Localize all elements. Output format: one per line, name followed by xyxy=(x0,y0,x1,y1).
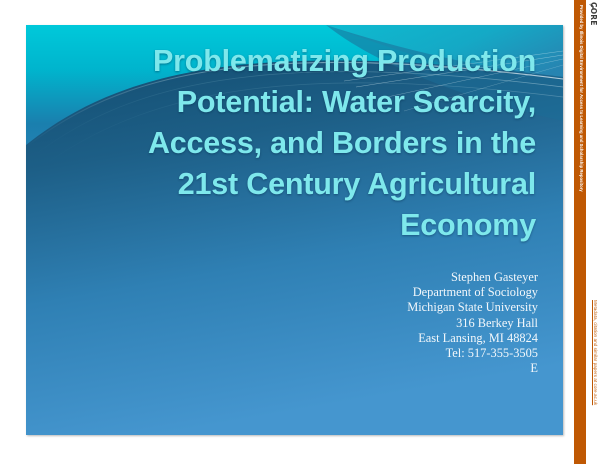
author-name: Stephen Gasteyer xyxy=(206,270,538,285)
author-telephone: Tel: 517-355-3505 xyxy=(206,346,538,361)
core-repository-banner: Provided by Illinois Digital Environment… xyxy=(566,0,600,464)
title-line: 21st Century Agricultural xyxy=(86,164,536,205)
document-page: Problematizing Production Potential: Wat… xyxy=(0,0,600,464)
title-line: Potential: Water Scarcity, xyxy=(86,82,536,123)
core-provided-by-wrapper: Provided by Illinois Digital Environment… xyxy=(575,5,585,425)
core-metadata-link-text: Metadata, citation and similar papers at… xyxy=(593,300,598,405)
title-line: Economy xyxy=(86,205,536,246)
author-department: Department of Sociology xyxy=(206,285,538,300)
core-logo[interactable]: CORE xyxy=(587,2,600,32)
title-slide: Problematizing Production Potential: Wat… xyxy=(26,25,563,435)
author-city-state: East Lansing, MI 48824 xyxy=(206,331,538,346)
slide-title: Problematizing Production Potential: Wat… xyxy=(86,41,536,246)
core-provided-by-text: Provided by Illinois Digital Environment… xyxy=(579,5,584,192)
author-email: E xyxy=(206,361,538,376)
title-line: Problematizing Production xyxy=(86,41,536,82)
slide-subtitle-author-block: Stephen Gasteyer Department of Sociology… xyxy=(206,270,538,376)
core-wordmark: CORE xyxy=(589,2,598,26)
author-building: 316 Berkey Hall xyxy=(206,316,538,331)
author-institution: Michigan State University xyxy=(206,300,538,315)
core-metadata-link[interactable]: Metadata, citation and similar papers at… xyxy=(587,300,600,420)
title-line: Access, and Borders in the xyxy=(86,123,536,164)
